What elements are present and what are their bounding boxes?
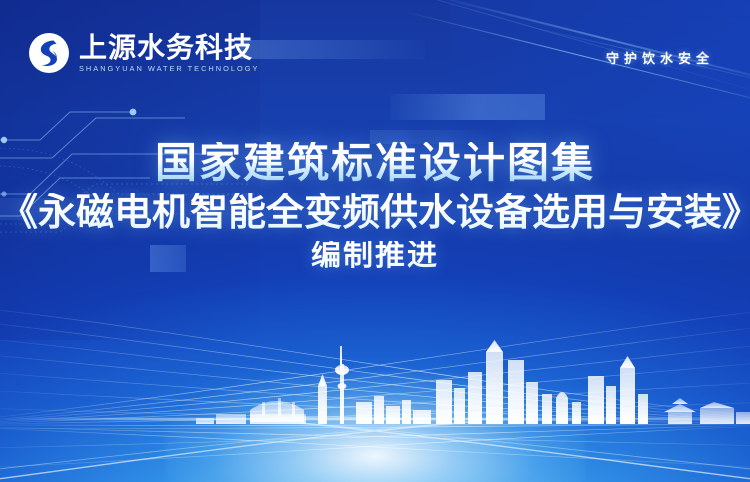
city-skyline-silhouette [0,324,750,434]
decorative-ribbon-block [240,40,425,59]
headline-line-1: 国家建筑标准设计图集 [0,142,750,184]
brand-name-cn: 上源水务科技 [79,34,259,62]
brand-logo[interactable]: 上源水务科技 SHANGYUAN WATER TECHNOLOGY [28,32,259,74]
headline-line-3: 编制推进 [0,241,750,271]
headline-line-2: 《永磁电机智能全变频供水设备选用与安装》 [0,193,750,231]
poster-canvas: 上源水务科技 SHANGYUAN WATER TECHNOLOGY 守护饮水安全… [0,0,750,482]
water-swirl-logo-icon [28,32,70,74]
brand-name-en: SHANGYUAN WATER TECHNOLOGY [79,65,259,72]
headline-group: 国家建筑标准设计图集 《永磁电机智能全变频供水设备选用与安装》 编制推进 [0,142,750,271]
decorative-ribbon-block [390,94,545,120]
brand-logo-text: 上源水务科技 SHANGYUAN WATER TECHNOLOGY [79,34,259,72]
brand-tagline: 守护饮水安全 [606,48,714,67]
